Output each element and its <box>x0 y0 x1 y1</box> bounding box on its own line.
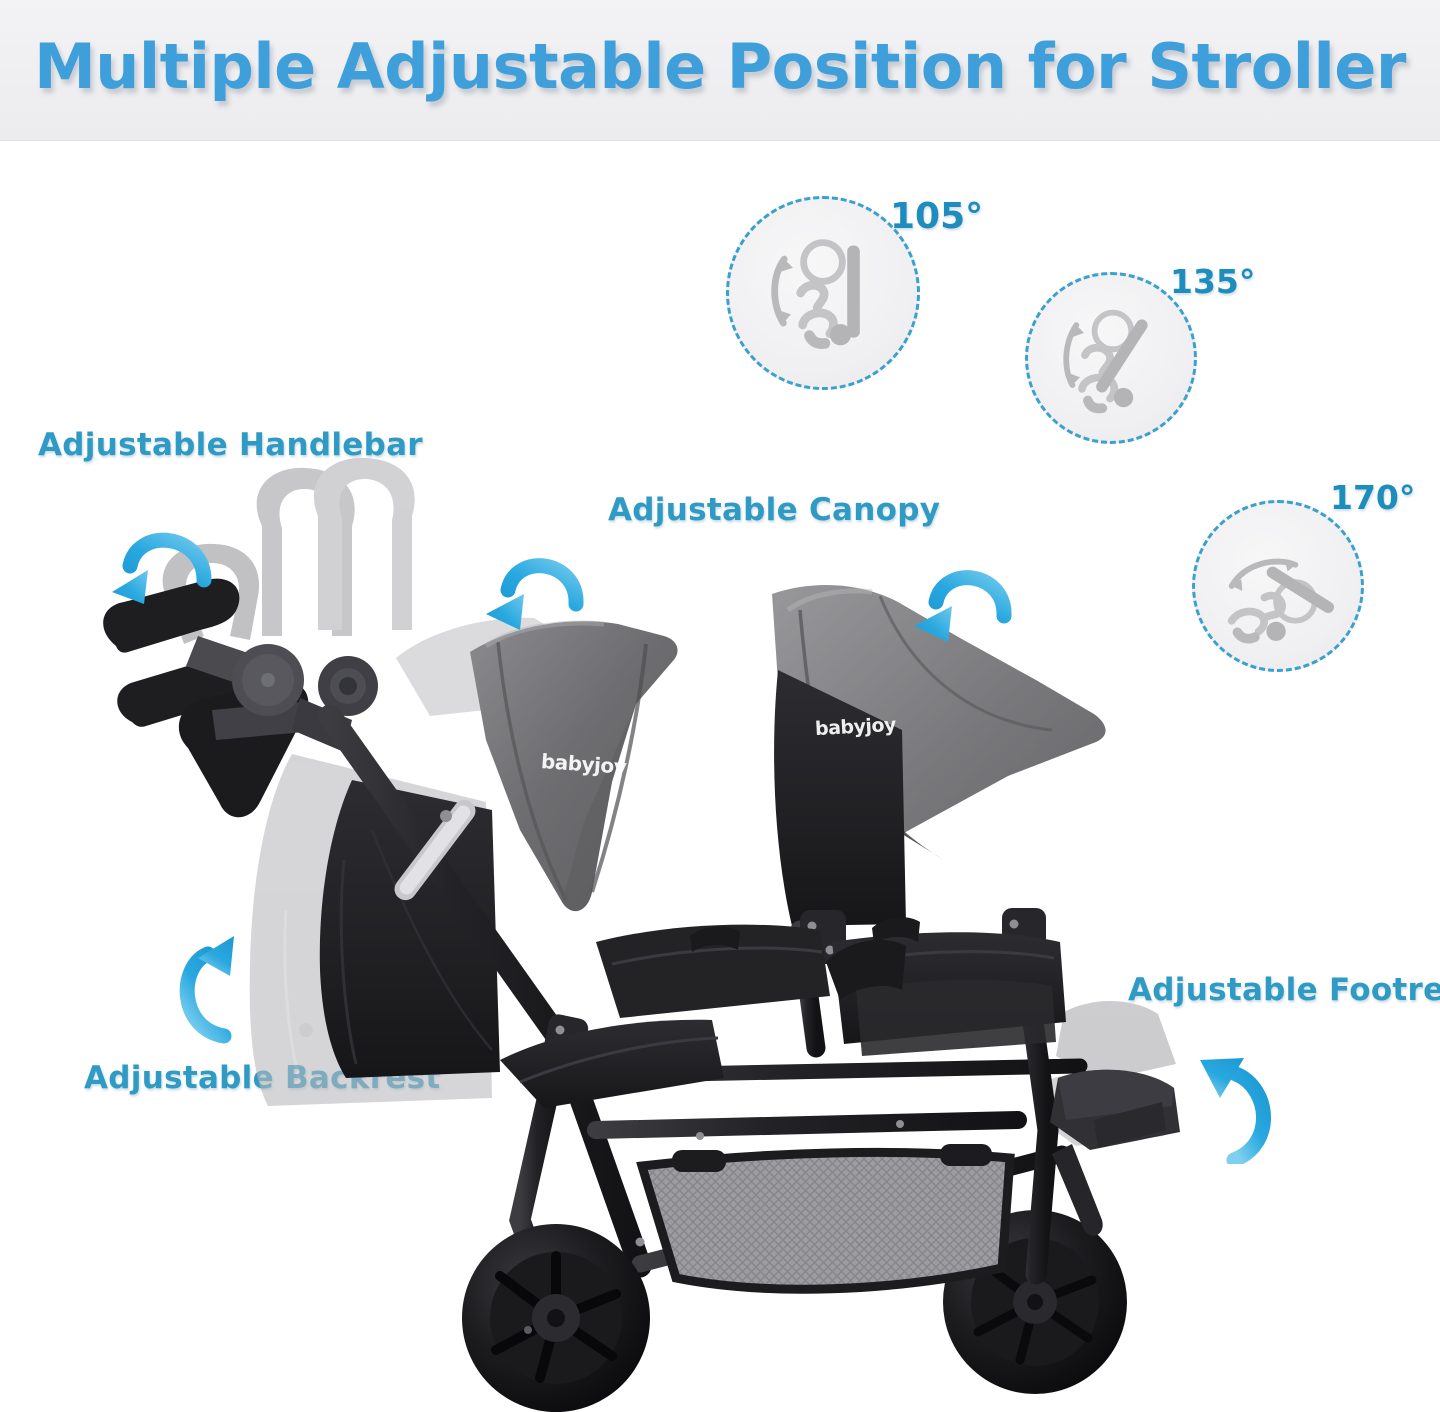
rotation-arrow-rear-canopy-icon <box>910 552 1014 648</box>
rotation-arrow-footrest-icon <box>1182 1052 1282 1164</box>
page-title: Multiple Adjustable Position for Strolle… <box>0 30 1440 103</box>
front-seat-base <box>500 1020 724 1108</box>
infographic-page: Multiple Adjustable Position for Strolle… <box>0 0 1440 1412</box>
front-wheel <box>462 1224 650 1412</box>
recline-seat-upright-icon <box>729 199 917 387</box>
stroller-illustration <box>0 430 1440 1412</box>
angle-value-105: 105° <box>890 196 983 237</box>
storage-basket <box>642 1144 1010 1289</box>
footrest <box>1050 1070 1180 1236</box>
front-canopy <box>470 621 678 911</box>
angle-value-135: 135° <box>1170 262 1255 301</box>
rotation-arrow-backrest-icon <box>168 932 260 1044</box>
rotation-arrow-front-canopy-icon <box>482 540 586 636</box>
rotation-arrow-handlebar-icon <box>108 508 216 616</box>
